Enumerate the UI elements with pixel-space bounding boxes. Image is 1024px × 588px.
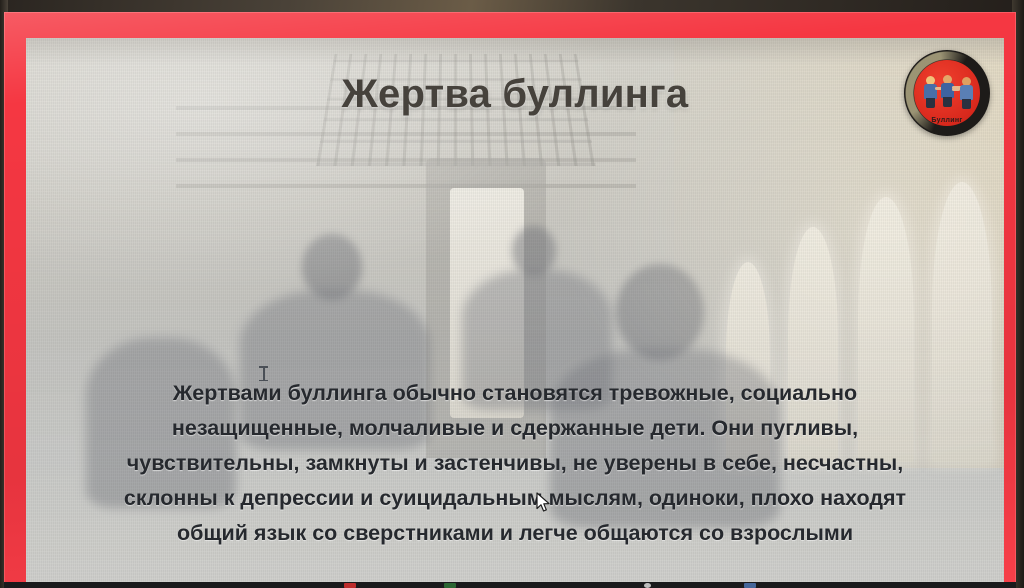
presentation-slide[interactable]: Жертва буллинга Жертвами буллинга обычно…: [26, 38, 1004, 582]
taskbar-item-app-green[interactable]: [444, 583, 456, 588]
desktop-taskbar[interactable]: [4, 582, 1016, 588]
taskbar-item-app-circle[interactable]: [644, 583, 651, 588]
slide-red-frame: Жертва буллинга Жертвами буллинга обычно…: [4, 12, 1016, 588]
photo-person-head: [616, 264, 704, 360]
taskbar-item-app-blue[interactable]: [744, 583, 756, 588]
anti-bullying-logo-icon: Буллинг: [904, 50, 990, 136]
photo-person-head: [512, 226, 556, 276]
slide-body-text: Жертвами буллинга обычно становятся трев…: [40, 376, 990, 551]
logo-caption: Буллинг: [904, 117, 990, 124]
taskbar-item-app-red[interactable]: [344, 583, 356, 588]
slide-title: Жертва буллинга: [26, 72, 1004, 117]
photographed-screen: Жертва буллинга Жертвами буллинга обычно…: [0, 0, 1024, 588]
